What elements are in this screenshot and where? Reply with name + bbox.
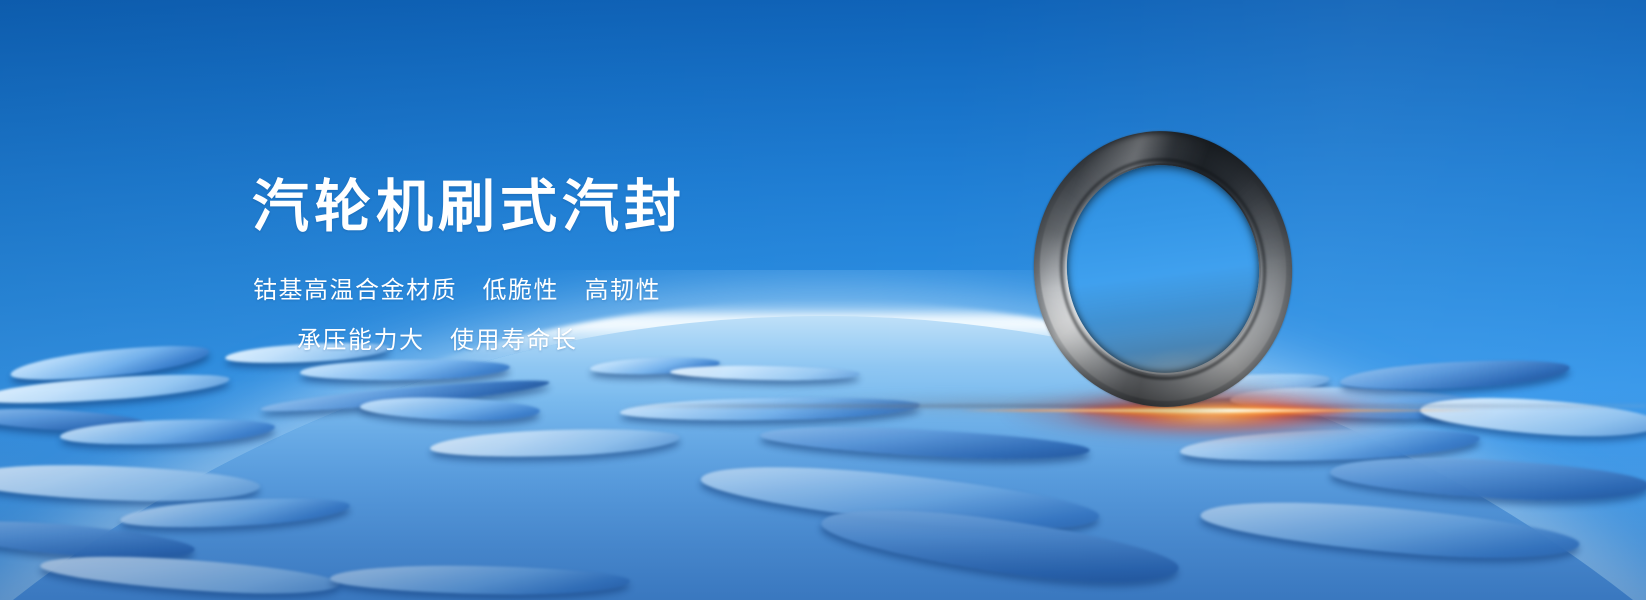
- product-image-brush-seal-ring: [1018, 116, 1308, 421]
- subtitle-line-2: 承压能力大 使用寿命长: [297, 320, 578, 355]
- subtitle-line-1: 钴基高温合金材质 低脆性 高韧性: [253, 270, 661, 305]
- hero-banner: 汽轮机刷式汽封 钴基高温合金材质 低脆性 高韧性 承压能力大 使用寿命长: [0, 0, 1646, 600]
- page-title: 汽轮机刷式汽封: [252, 177, 686, 237]
